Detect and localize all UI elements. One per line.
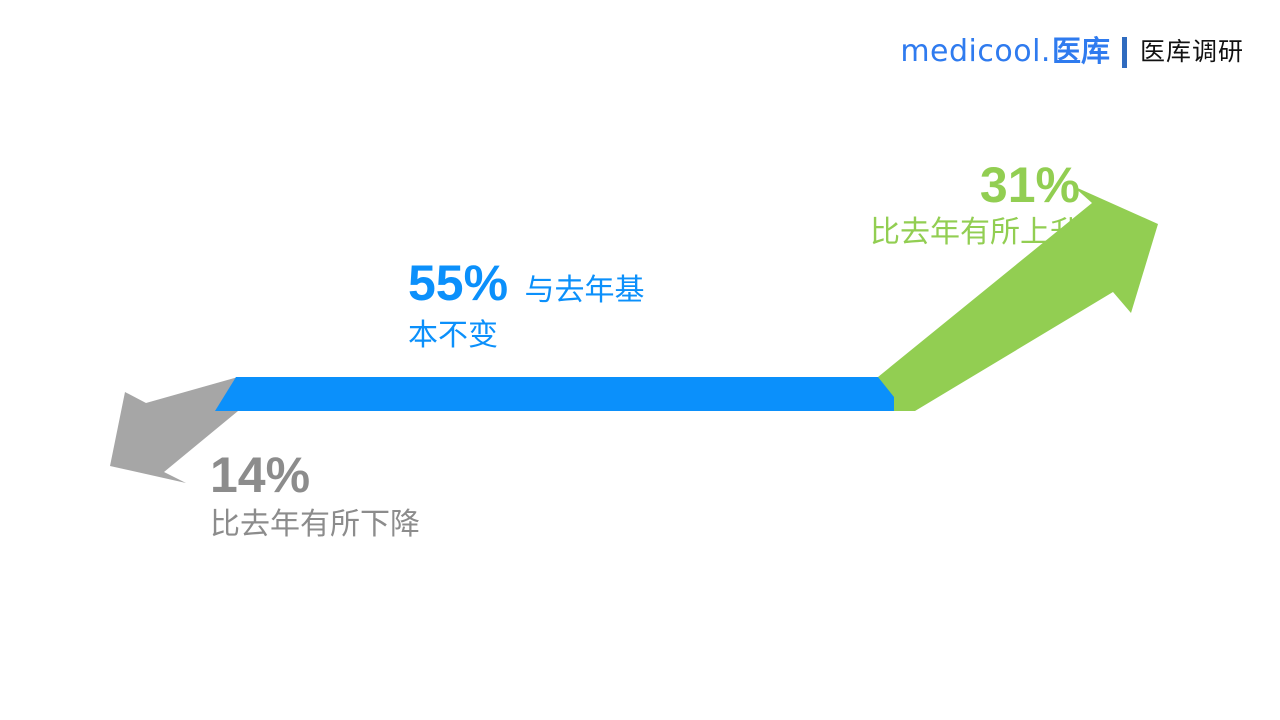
callout-unchanged-line2: 本不变 [408, 313, 708, 358]
callout-increase-percent: 31% [780, 160, 1080, 210]
callout-unchanged-line1: 55% 与去年基 [408, 258, 708, 313]
slide-canvas: medicool. 医库 医库调研 31% 比去年有所上升 55% 与去年基 本… [0, 0, 1280, 720]
callout-unchanged-description-cont: 本不变 [408, 319, 498, 352]
callout-decrease-description: 比去年有所下降 [210, 508, 550, 543]
callout-unchanged: 55% 与去年基 本不变 [408, 258, 708, 358]
callout-decrease-percent: 14% [210, 450, 550, 500]
callout-unchanged-percent: 55% [408, 255, 508, 311]
callout-increase-description: 比去年有所上升 [780, 216, 1080, 251]
three-segment-arrow [0, 0, 1280, 720]
callout-increase: 31% 比去年有所上升 [780, 160, 1080, 251]
callout-decrease: 14% 比去年有所下降 [210, 450, 550, 543]
callout-unchanged-description: 与去年基 [525, 274, 645, 307]
flat-bar-blue [215, 377, 894, 411]
